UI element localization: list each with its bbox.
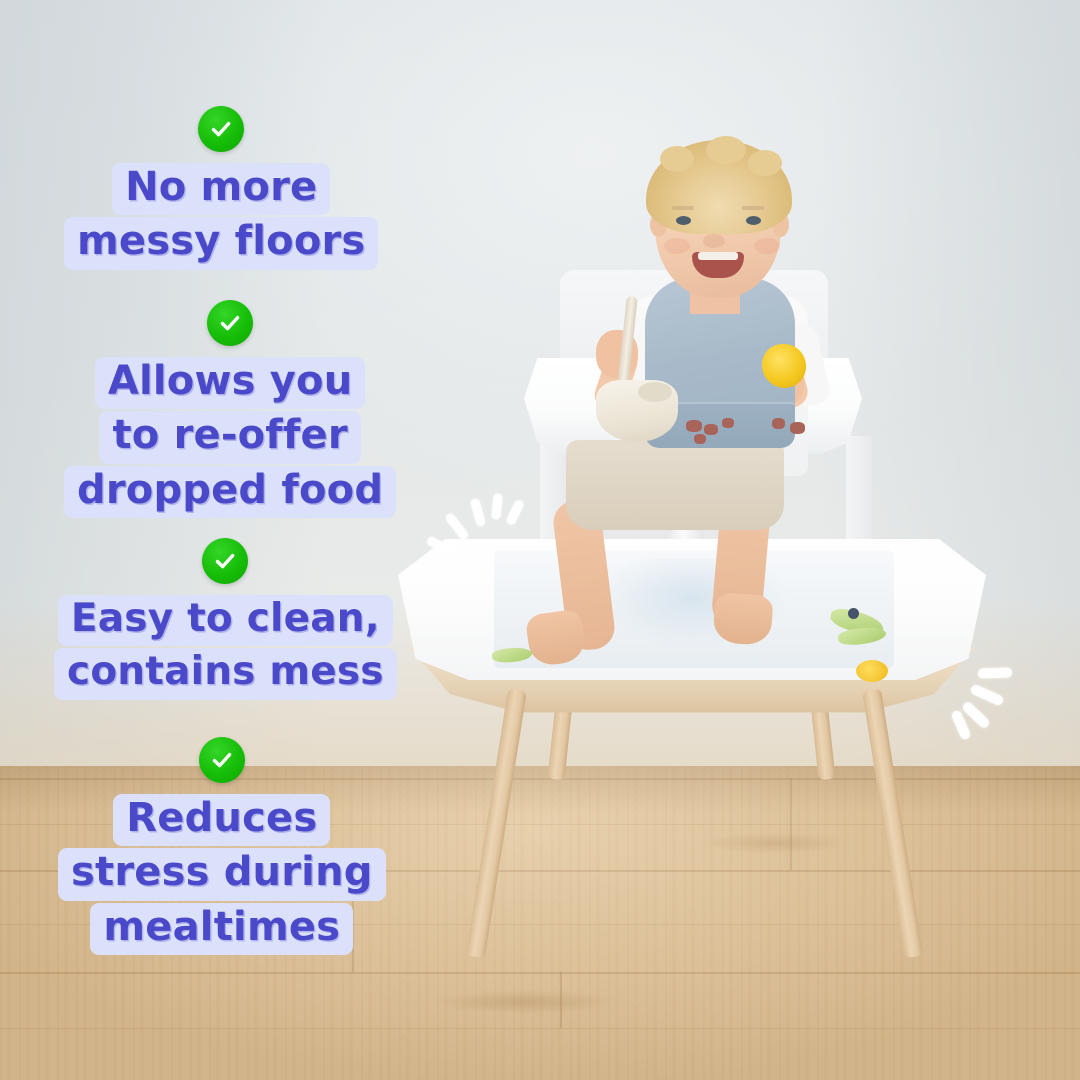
- benefit-item-easy-to-clean: Easy to clean, contains mess: [54, 538, 397, 700]
- benefit-line: No more: [112, 163, 330, 215]
- benefit-item-reduces-stress: Reduces stress during mealtimes: [58, 737, 386, 955]
- benefit-text-block: Allows you to re-offer dropped food: [64, 357, 396, 518]
- corn-cob-piece: [762, 344, 806, 388]
- benefit-line: to re-offer: [99, 411, 360, 463]
- green-check-circle-icon: [198, 106, 244, 152]
- spoon: [617, 296, 638, 389]
- benefit-text-block: Reduces stress during mealtimes: [58, 794, 386, 955]
- sweetcorn-kernels: [856, 660, 888, 682]
- food-bit: [694, 434, 706, 444]
- benefit-line: dropped food: [64, 466, 396, 518]
- benefit-item-no-more-messy-floors: No more messy floors: [64, 106, 378, 270]
- benefit-item-re-offer-dropped-food: Allows you to re-offer dropped food: [64, 300, 396, 518]
- benefit-line: Easy to clean,: [58, 595, 393, 646]
- food-bit: [686, 420, 702, 432]
- benefit-line: stress during: [58, 848, 386, 900]
- green-check-circle-icon: [202, 538, 248, 584]
- green-check-circle-icon: [199, 737, 245, 783]
- food-bit: [790, 422, 805, 434]
- benefit-line: Allows you: [95, 357, 366, 409]
- benefit-line: Reduces: [113, 794, 330, 846]
- benefit-text-block: No more messy floors: [64, 163, 378, 270]
- benefit-line: mealtimes: [90, 903, 353, 955]
- food-bit: [722, 418, 734, 428]
- benefit-text-block: Easy to clean, contains mess: [54, 595, 397, 700]
- sparkle-burst-right: [944, 658, 1054, 750]
- benefit-line: messy floors: [64, 217, 378, 269]
- infographic-canvas: No more messy floors Allows you to re-of…: [0, 0, 1080, 1080]
- food-bit: [704, 424, 718, 435]
- green-check-circle-icon: [207, 300, 253, 346]
- bowl-spout: [638, 382, 672, 402]
- food-bit: [772, 418, 785, 429]
- blueberry: [848, 608, 859, 619]
- sparkle-burst-left: [424, 494, 534, 574]
- cucumber-slice: [491, 646, 532, 664]
- benefit-line: contains mess: [54, 648, 397, 699]
